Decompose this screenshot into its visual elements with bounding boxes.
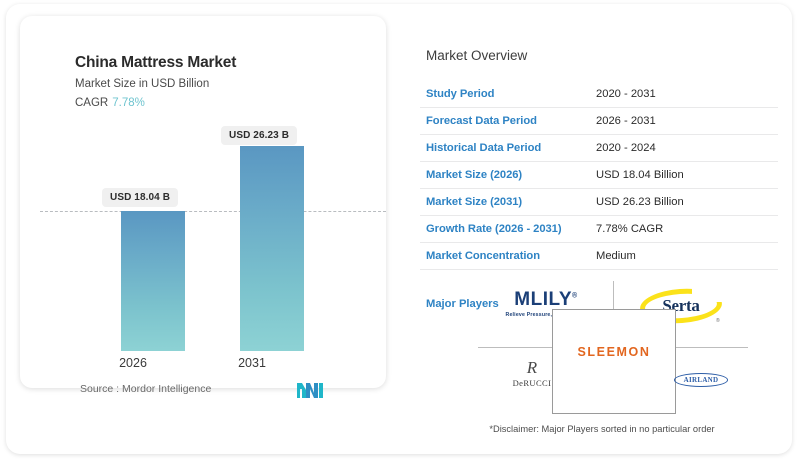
market-overview-panel: Market Overview Study Period 2020 - 2031…: [420, 16, 780, 446]
value-label-2026: USD 18.04 B: [102, 188, 178, 207]
player-logo-derucci: R DeRUCCI: [482, 359, 582, 388]
overview-heading: Market Overview: [426, 48, 527, 63]
row-value: 2020 - 2024: [596, 142, 656, 154]
table-row: Market Size (2026) USD 18.04 Billion: [420, 162, 778, 189]
row-label: Forecast Data Period: [426, 115, 537, 127]
table-row: Forecast Data Period 2026 - 2031: [420, 108, 778, 135]
bar-2031: [240, 146, 304, 351]
airland-wordmark: AIRLAND: [674, 373, 729, 387]
bar-chart-plot: USD 18.04 B USD 26.23 B: [40, 126, 386, 351]
source-row: Source : Mordor Intelligence: [20, 381, 386, 405]
disclaimer-text: *Disclaimer: Major Players sorted in no …: [424, 424, 780, 434]
row-value: 2020 - 2031: [596, 88, 656, 100]
table-row: Study Period 2020 - 2031: [420, 81, 778, 108]
row-value: 7.78% CAGR: [596, 223, 663, 235]
table-row: Market Concentration Medium: [420, 243, 778, 270]
x-axis-label-2031: 2031: [207, 356, 297, 370]
row-value: Medium: [596, 250, 636, 262]
mlily-wordmark: MLILY: [514, 289, 572, 310]
table-row: Market Size (2031) USD 26.23 Billion: [420, 189, 778, 216]
sleemon-wordmark: SLEEMON: [577, 345, 650, 359]
screenshot-root: China Mattress Market Market Size in USD…: [0, 0, 800, 459]
row-value: 2026 - 2031: [596, 115, 656, 127]
cagr-label: CAGR: [75, 97, 108, 109]
derucci-wordmark: DeRUCCI: [482, 378, 582, 388]
x-axis-label-2026: 2026: [88, 356, 178, 370]
value-label-2031: USD 26.23 B: [221, 126, 297, 145]
chart-card: China Mattress Market Market Size in USD…: [20, 16, 386, 388]
source-text: Source : Mordor Intelligence: [80, 383, 211, 395]
row-label: Market Concentration: [426, 250, 540, 262]
mordor-intelligence-logo: [297, 381, 323, 404]
table-row: Growth Rate (2026 - 2031) 7.78% CAGR: [420, 216, 778, 243]
row-label: Study Period: [426, 88, 494, 100]
row-label: Market Size (2031): [426, 196, 522, 208]
chart-title: China Mattress Market: [75, 54, 236, 72]
registered-mark-icon: ®: [572, 293, 578, 300]
major-players-logo-grid: MLILY® Relieve Pressure, Sleep Better Se…: [478, 281, 748, 414]
registered-mark-icon: ®: [716, 318, 720, 324]
derucci-monogram-icon: R: [482, 359, 582, 376]
row-label: Market Size (2026): [426, 169, 522, 181]
row-value: USD 18.04 Billion: [596, 169, 684, 181]
chart-subtitle: Market Size in USD Billion: [75, 78, 209, 90]
overview-table: Study Period 2020 - 2031 Forecast Data P…: [420, 81, 778, 270]
table-row: Historical Data Period 2020 - 2024: [420, 135, 778, 162]
chart-cagr: CAGR7.78%: [75, 97, 145, 109]
row-label: Growth Rate (2026 - 2031): [426, 223, 562, 235]
reference-dashed-line: [40, 211, 386, 212]
bar-2026: [121, 211, 185, 351]
row-value: USD 26.23 Billion: [596, 196, 684, 208]
row-label: Historical Data Period: [426, 142, 541, 154]
cagr-value: 7.78%: [112, 97, 145, 109]
player-logo-airland: AIRLAND: [656, 369, 746, 387]
